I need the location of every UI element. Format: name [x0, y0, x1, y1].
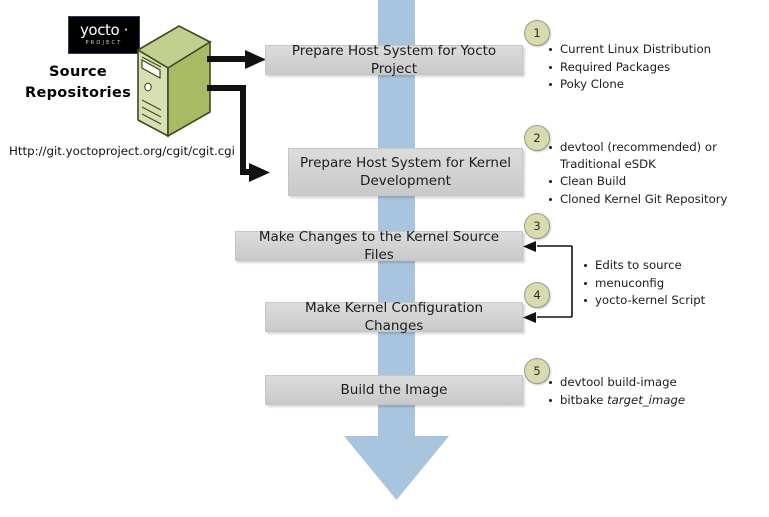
note-item: devtool build-image — [548, 374, 753, 391]
note-item: Poky Clone — [548, 76, 763, 93]
connector-server-to-step2 — [207, 88, 270, 182]
process-box-step-1[interactable]: Prepare Host System for Yocto Project — [265, 45, 523, 75]
connector-server-to-step1 — [207, 50, 266, 69]
note-item: devtool (recommended) or Traditional eSD… — [548, 139, 753, 172]
note-item: Required Packages — [548, 59, 763, 76]
process-box-step-5[interactable]: Build the Image — [265, 375, 523, 405]
step-number-5: 5 — [524, 358, 550, 384]
step-number-1: 1 — [524, 20, 550, 46]
process-box-step-4[interactable]: Make Kernel Configuration Changes — [265, 302, 523, 332]
note-item: Clean Build — [548, 173, 753, 190]
notes-steps-3-4: Edits to source menuconfig yocto-kernel … — [583, 257, 763, 310]
note-item: menuconfig — [583, 275, 763, 292]
notes-step-1: Current Linux Distribution Required Pack… — [548, 41, 763, 94]
note-command-arg: target_image — [607, 393, 685, 407]
process-box-step-2[interactable]: Prepare Host System for Kernel Developme… — [288, 148, 523, 196]
step-number-2: 2 — [524, 125, 550, 151]
process-box-step-3[interactable]: Make Changes to the Kernel Source Files — [235, 231, 523, 261]
note-item: yocto-kernel Script — [583, 292, 763, 309]
diagram-canvas: yocto · PROJECT Source Repositories Http… — [0, 0, 769, 517]
note-item: bitbake target_image — [548, 392, 753, 409]
notes-step-2: devtool (recommended) or Traditional eSD… — [548, 139, 753, 208]
step-number-3: 3 — [524, 213, 550, 239]
connector-notes-to-steps-3-4 — [523, 241, 572, 323]
note-item: Cloned Kernel Git Repository — [548, 191, 753, 208]
note-item: Edits to source — [583, 257, 763, 274]
note-command-prefix: bitbake — [560, 393, 607, 407]
note-item: Current Linux Distribution — [548, 41, 763, 58]
notes-step-5: devtool build-image bitbake target_image — [548, 374, 753, 409]
step-number-4: 4 — [524, 282, 550, 308]
